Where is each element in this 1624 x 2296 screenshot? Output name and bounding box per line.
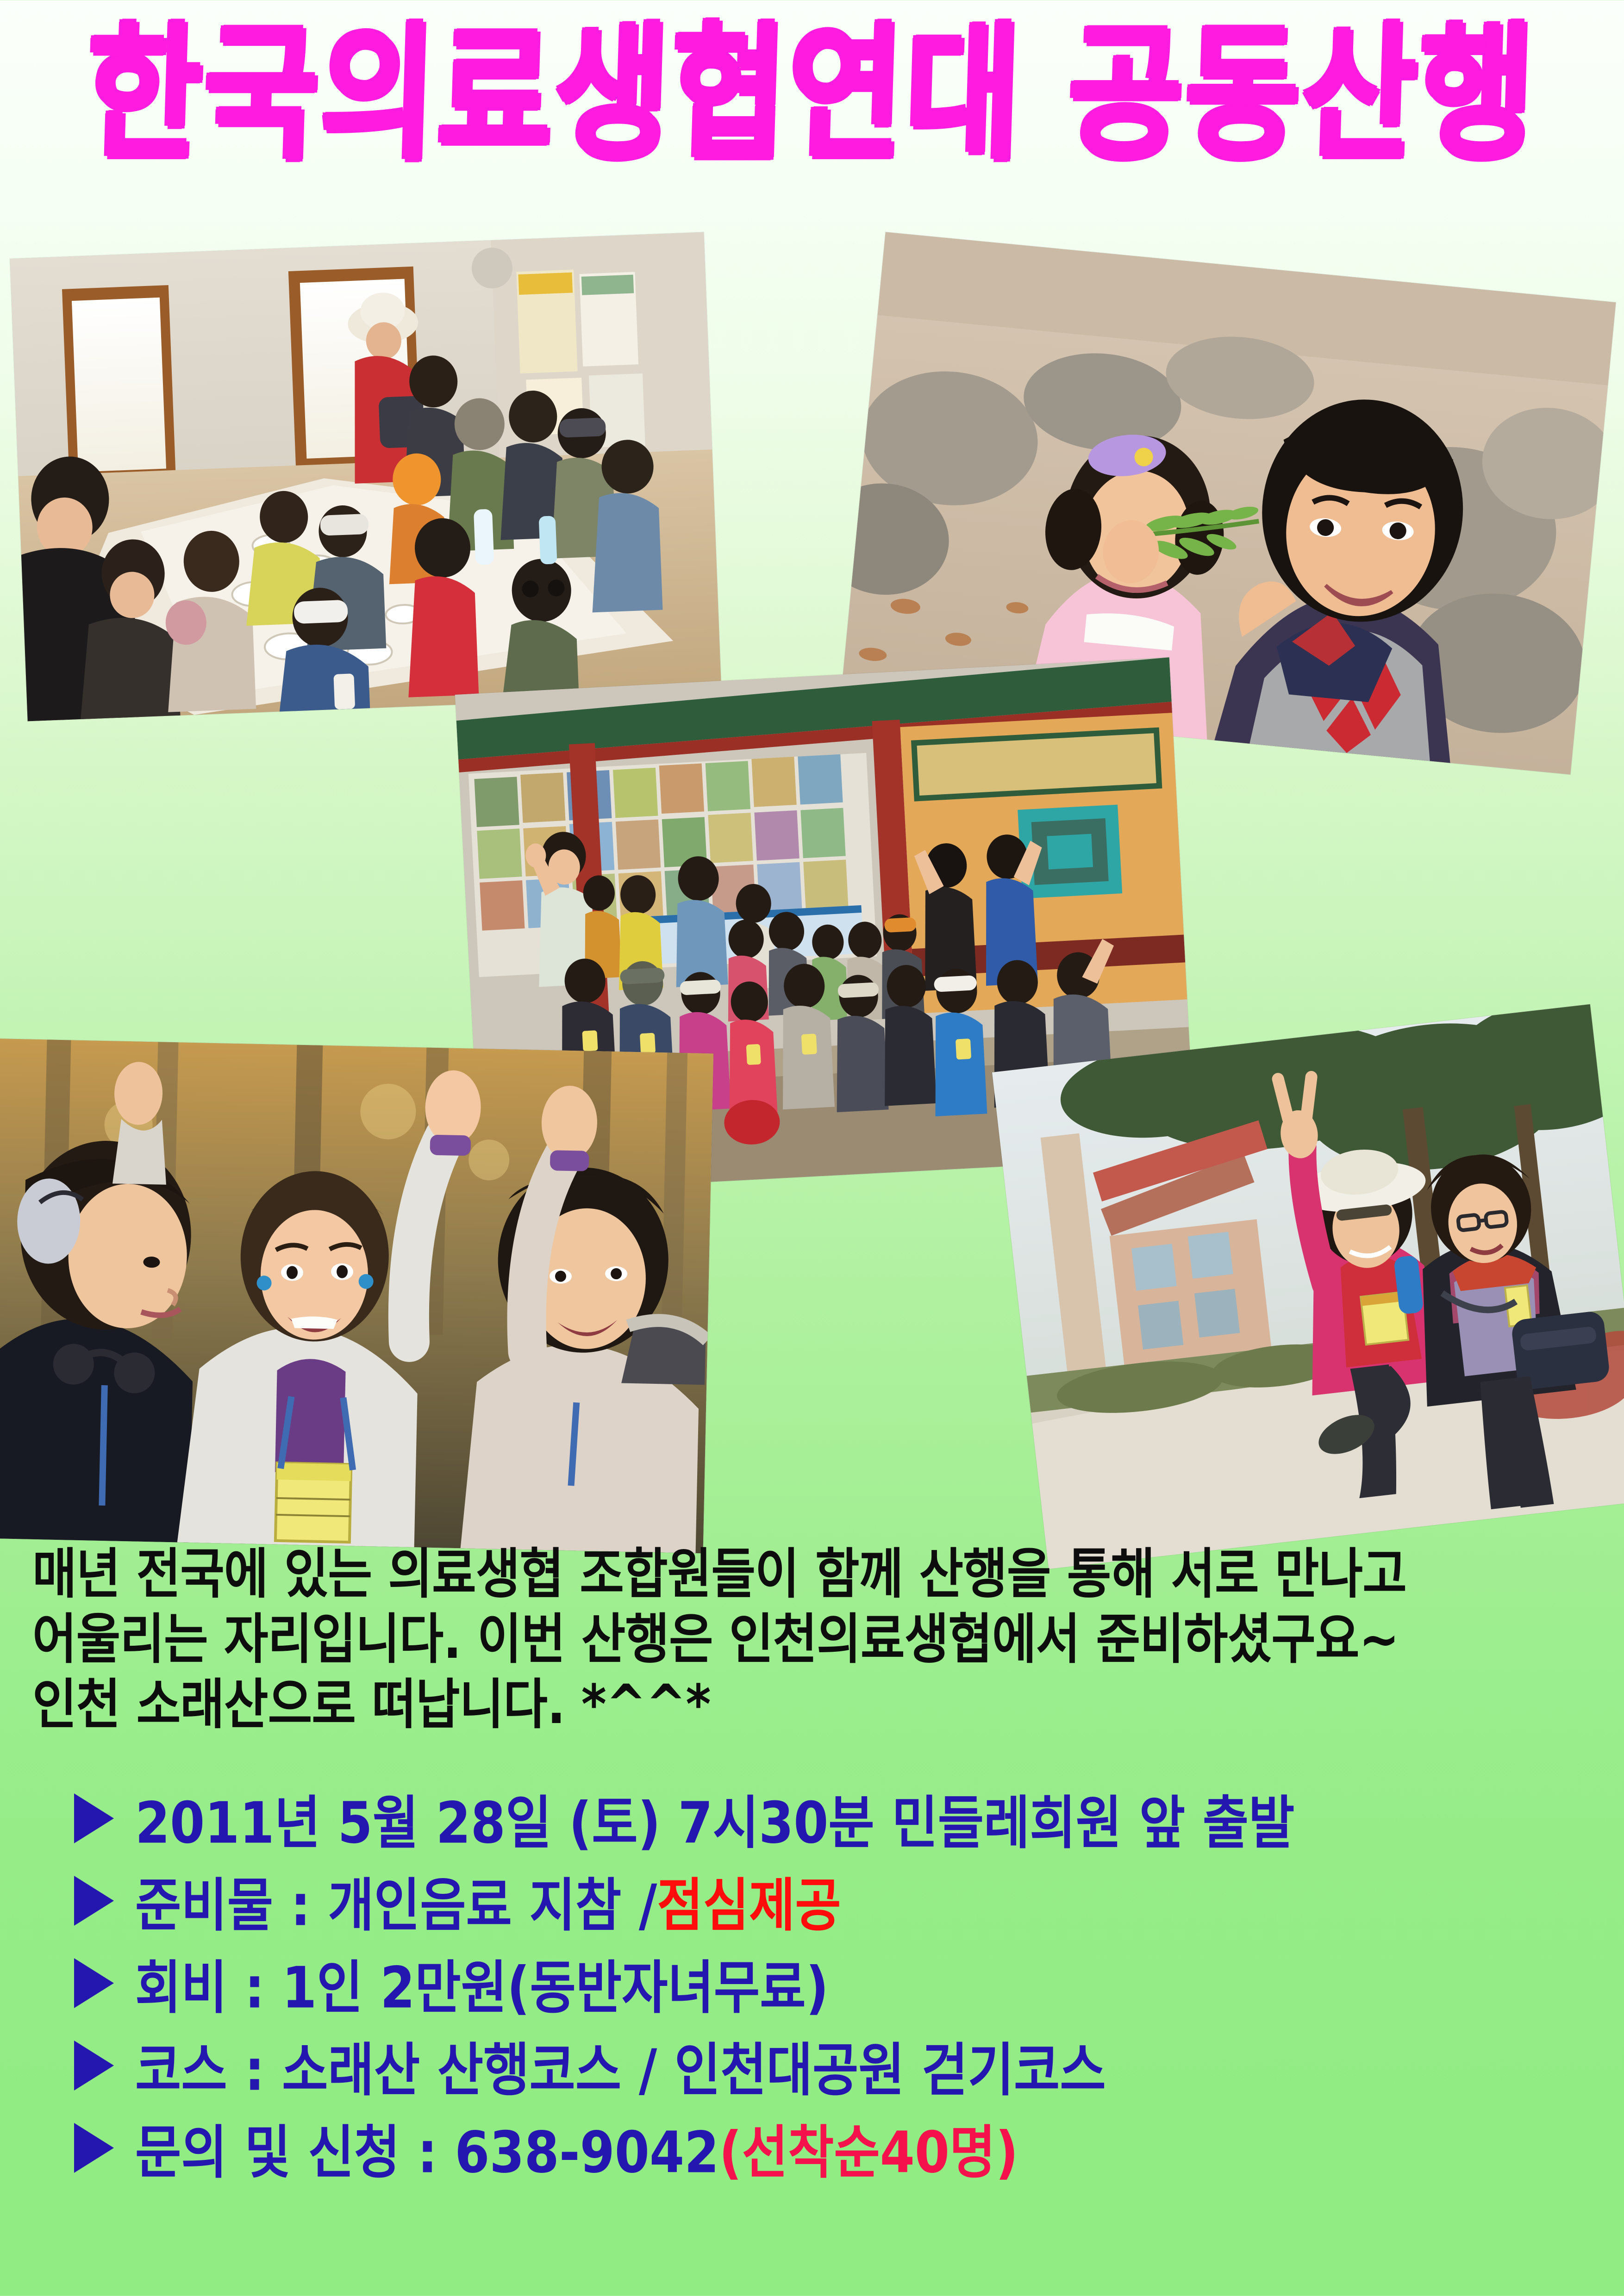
photo-collage bbox=[0, 218, 1624, 1578]
intro-line-1: 매년 전국에 있는 의료생협 조합원들이 함께 산행을 통해 서로 만나고 bbox=[32, 1541, 1597, 1606]
list-item: 준비물 : 개인음료 지참 / 점심제공 bbox=[74, 1860, 1602, 1942]
list-item: 문의 및 신청 : 638-9042 (선착순40명) bbox=[74, 2107, 1602, 2189]
detail-list: 2011년 5월 28일 (토) 7시30분 민들레희원 앞 출발 준비물 : … bbox=[74, 1777, 1602, 2189]
photo-two-women-hiking-art bbox=[992, 1004, 1624, 1569]
poster-title-banner: 한국의료생협연대 공동산행 bbox=[0, 19, 1624, 171]
page-title: 한국의료생협연대 공동산행 bbox=[85, 22, 1538, 168]
photo-three-hikers-art bbox=[0, 1039, 713, 1553]
detail-schedule: 2011년 5월 28일 (토) 7시30분 민들레희원 앞 출발 bbox=[135, 1777, 1294, 1860]
list-item: 2011년 5월 28일 (토) 7시30분 민들레희원 앞 출발 bbox=[74, 1777, 1602, 1860]
detail-course: 코스 : 소래산 산행코스 / 인천대공원 걷기코스 bbox=[135, 2024, 1106, 2107]
photo-communal-meal-art bbox=[10, 232, 721, 722]
detail-contact-highlight: (선착순40명) bbox=[719, 2107, 1018, 2189]
detail-fee: 회비 : 1인 2만원(동반자녀무료) bbox=[135, 1942, 829, 2024]
triangle-right-bullet-icon bbox=[74, 1958, 114, 2008]
triangle-right-bullet-icon bbox=[74, 2041, 114, 2091]
photo-two-women-hiking bbox=[992, 1004, 1624, 1569]
detail-contact: 문의 및 신청 : 638-9042 bbox=[135, 2107, 719, 2189]
intro-paragraph: 매년 전국에 있는 의료생협 조합원들이 함께 산행을 통해 서로 만나고 어울… bbox=[32, 1541, 1597, 1737]
list-item: 코스 : 소래산 산행코스 / 인천대공원 걷기코스 bbox=[74, 2024, 1602, 2107]
detail-supplies-highlight: 점심제공 bbox=[657, 1860, 841, 1942]
intro-line-3: 인천 소래산으로 떠납니다. *^^* bbox=[32, 1672, 1597, 1737]
triangle-right-bullet-icon bbox=[74, 1876, 114, 1926]
intro-line-2: 어울리는 자리입니다. 이번 산행은 인천의료생협에서 준비하셨구요~ bbox=[32, 1606, 1597, 1672]
photo-three-hikers bbox=[0, 1039, 713, 1553]
list-item: 회비 : 1인 2만원(동반자녀무료) bbox=[74, 1942, 1602, 2024]
triangle-right-bullet-icon bbox=[74, 1793, 114, 1843]
detail-supplies: 준비물 : 개인음료 지참 / bbox=[135, 1860, 657, 1942]
photo-communal-meal bbox=[10, 232, 721, 722]
triangle-right-bullet-icon bbox=[74, 2123, 114, 2173]
